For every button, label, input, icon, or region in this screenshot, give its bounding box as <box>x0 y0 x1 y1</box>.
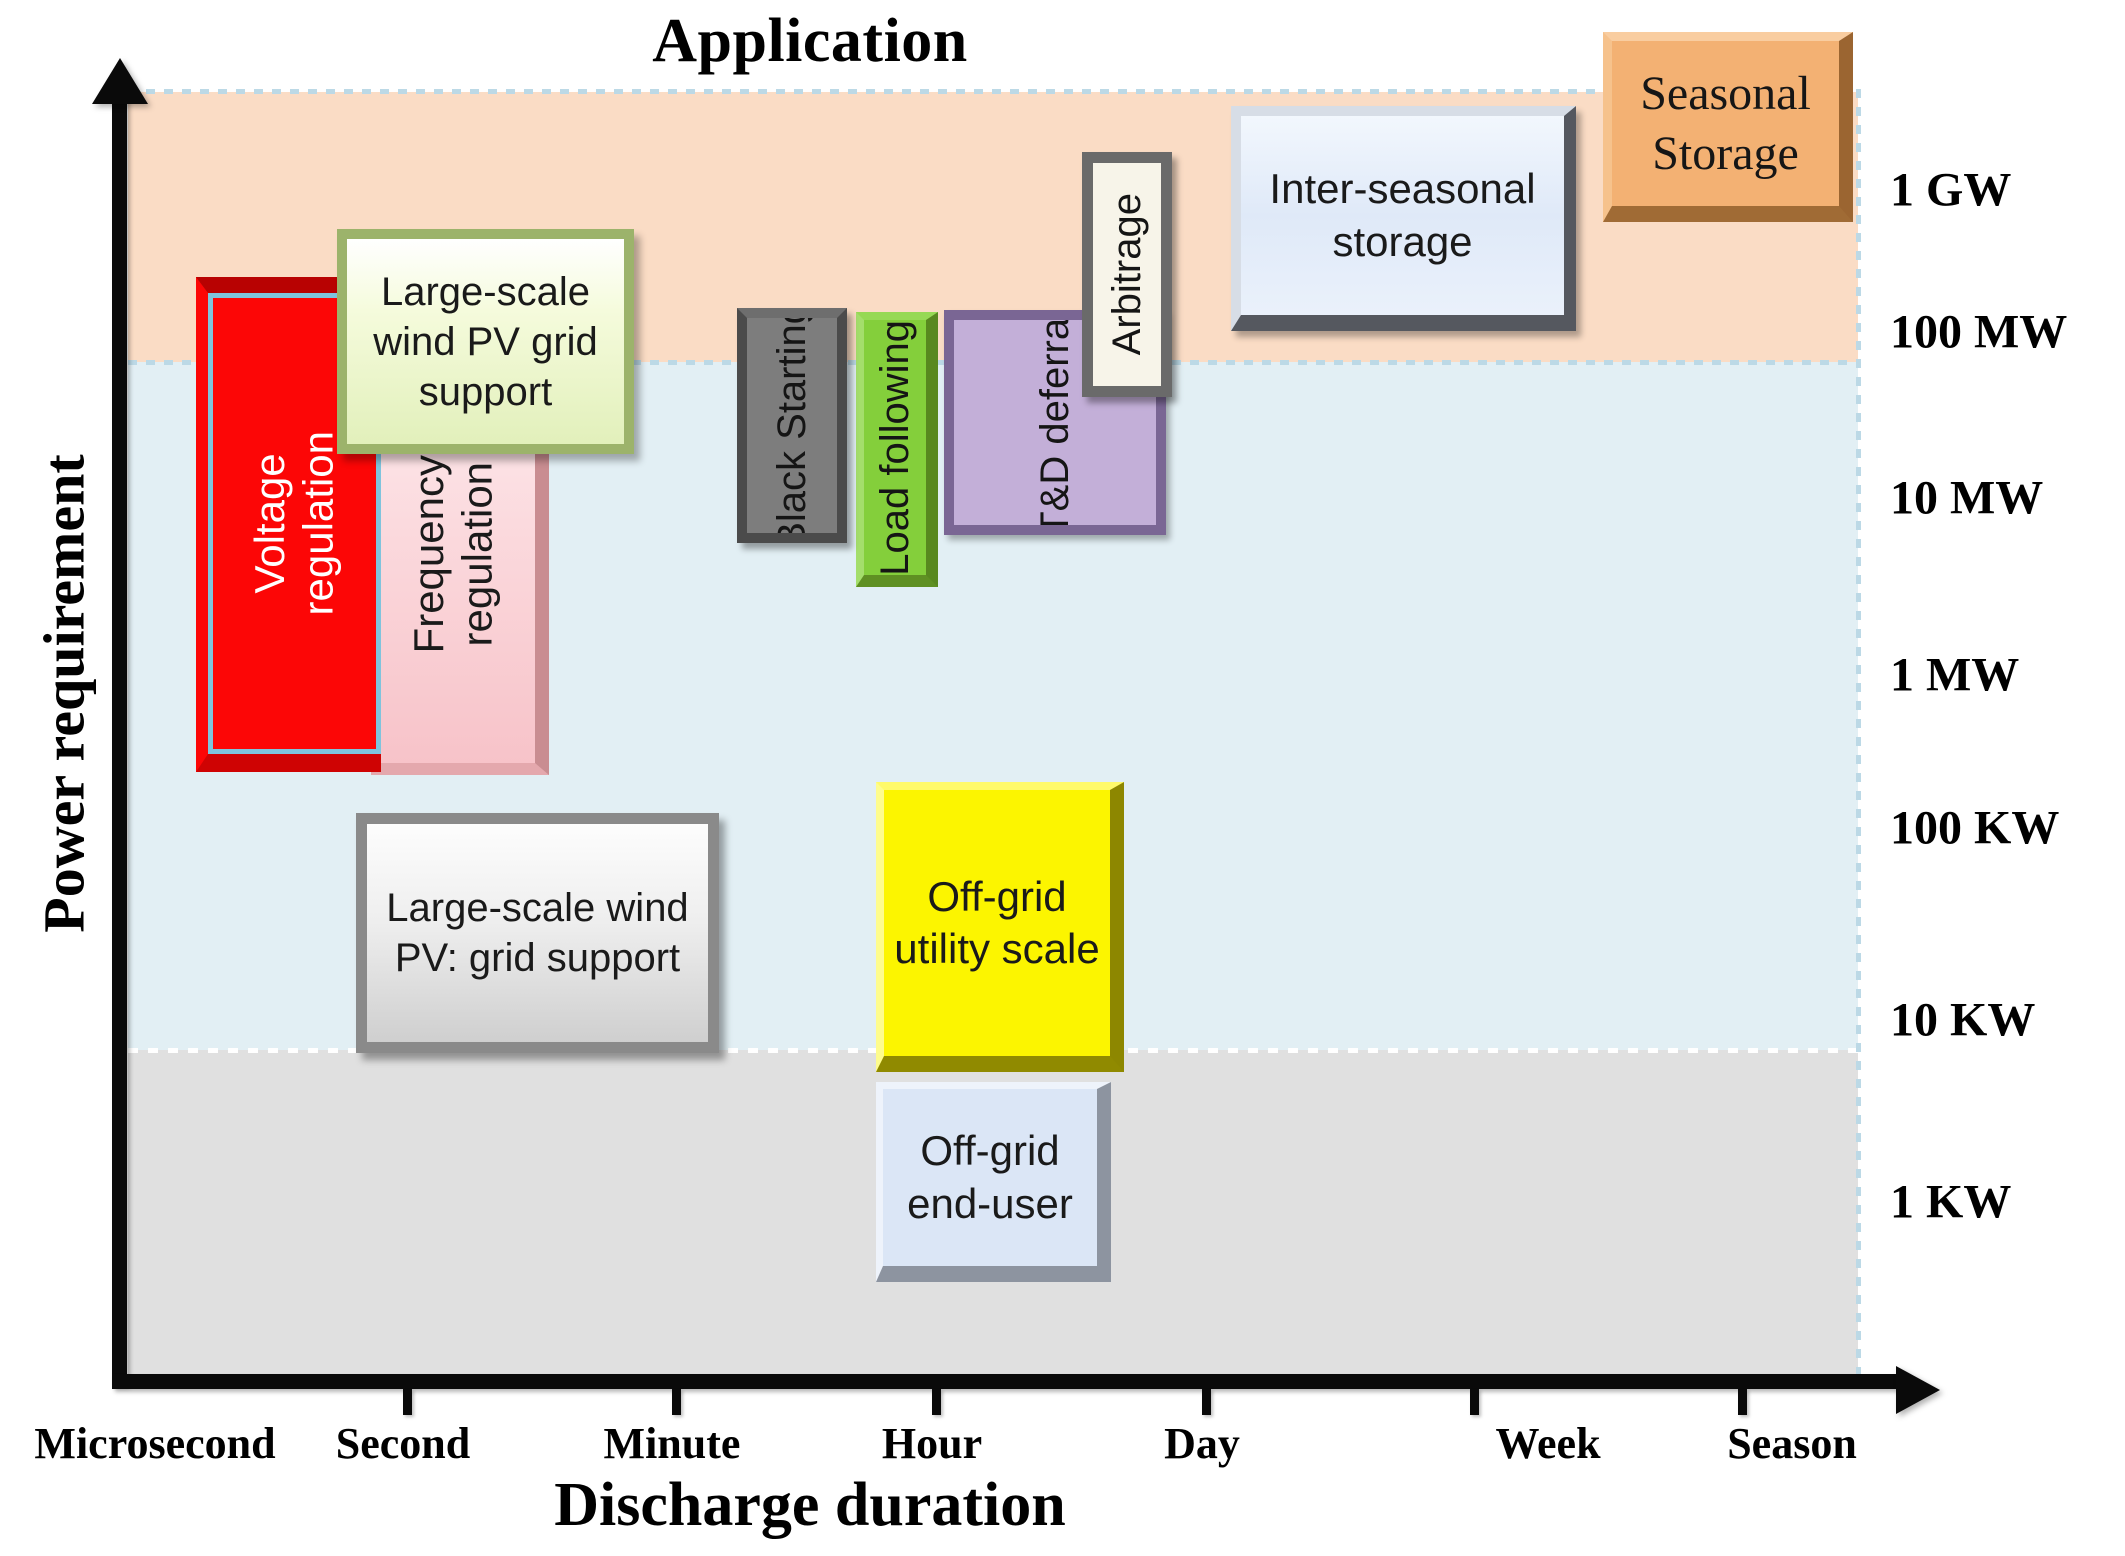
box-label-arbitrage: Arbitrage <box>1094 193 1160 355</box>
box-label-black-starting: Black Starting <box>759 308 825 543</box>
x-axis-line <box>112 1374 1902 1389</box>
x-tick-label-second: Second <box>336 1418 470 1469</box>
y-tick-label-100kw: 100 KW <box>1890 801 2059 856</box>
x-axis-arrow <box>1896 1366 1940 1414</box>
gridline-right-dotted <box>1856 89 1861 1380</box>
y-axis-title: Power requirement <box>31 344 98 1044</box>
y-tick-label-1mw: 1 MW <box>1890 648 2019 703</box>
x-tick-label-season: Season <box>1727 1418 1857 1469</box>
y-axis-arrow <box>92 58 148 104</box>
box-label-td-deferral: T&D deferral <box>1022 310 1088 535</box>
box-large-scale-wind-pv-grid-support[interactable]: Large-scale wind PV grid support <box>337 229 634 454</box>
x-tick-mark <box>1738 1389 1747 1415</box>
x-tick-mark <box>1470 1389 1479 1415</box>
box-offgrid-utility-scale[interactable]: Off-grid utility scale <box>876 782 1124 1072</box>
box-label-inter-seasonal-storage: Inter-seasonal storage <box>1241 163 1564 268</box>
box-black-starting[interactable]: Black Starting <box>737 308 847 543</box>
box-label-seasonal-storage: Seasonal Storage <box>1612 64 1839 184</box>
box-offgrid-end-user[interactable]: Off-grid end-user <box>876 1082 1111 1282</box>
box-label-offgrid-end-user: Off-grid end-user <box>883 1125 1097 1230</box>
chart-title: Application <box>0 6 1620 77</box>
box-label-frequency-line2: regulation <box>453 462 500 646</box>
box-label-load-following: Load following <box>862 320 928 576</box>
box-large-scale-wind-pv-grid-support-secondary[interactable]: Large-scale wind PV: grid support <box>356 813 719 1053</box>
y-axis-line <box>112 95 127 1385</box>
x-tick-label-hour: Hour <box>882 1418 982 1469</box>
box-seasonal-storage[interactable]: Seasonal Storage <box>1603 32 1853 222</box>
x-tick-label-week: Week <box>1495 1418 1600 1469</box>
y-tick-label-1kw: 1 KW <box>1890 1175 2011 1230</box>
chart-canvas: Application Microsecond Second Minute Ho… <box>0 0 2125 1556</box>
x-tick-mark <box>672 1389 681 1415</box>
x-tick-mark <box>403 1389 412 1415</box>
x-tick-mark <box>932 1389 941 1415</box>
x-tick-label-minute: Minute <box>604 1418 741 1469</box>
x-tick-label-microsecond: Microsecond <box>34 1418 275 1469</box>
box-label-frequency-line1: Frequency <box>405 455 452 653</box>
y-tick-label-100mw: 100 MW <box>1890 305 2067 360</box>
y-tick-label-1gw: 1 GW <box>1890 163 2011 218</box>
box-label-voltage-line2: regulation <box>295 431 342 615</box>
x-tick-label-day: Day <box>1164 1418 1240 1469</box>
x-axis-title: Discharge duration <box>0 1470 1620 1541</box>
box-load-following[interactable]: Load following <box>856 312 938 587</box>
box-label-offgrid-utility-scale: Off-grid utility scale <box>884 871 1110 976</box>
gridline-top-dotted <box>128 89 1858 94</box>
box-label-voltage-line1: Voltage <box>246 453 293 593</box>
x-tick-mark <box>1202 1389 1211 1415</box>
y-tick-label-10kw: 10 KW <box>1890 993 2035 1048</box>
box-arbitrage[interactable]: Arbitrage <box>1082 152 1172 397</box>
y-tick-label-10mw: 10 MW <box>1890 471 2043 526</box>
box-label-lswpv-green: Large-scale wind PV grid support <box>347 267 624 417</box>
box-inter-seasonal-storage[interactable]: Inter-seasonal storage <box>1231 106 1576 331</box>
box-label-lswpv-gray: Large-scale wind PV: grid support <box>367 883 708 983</box>
